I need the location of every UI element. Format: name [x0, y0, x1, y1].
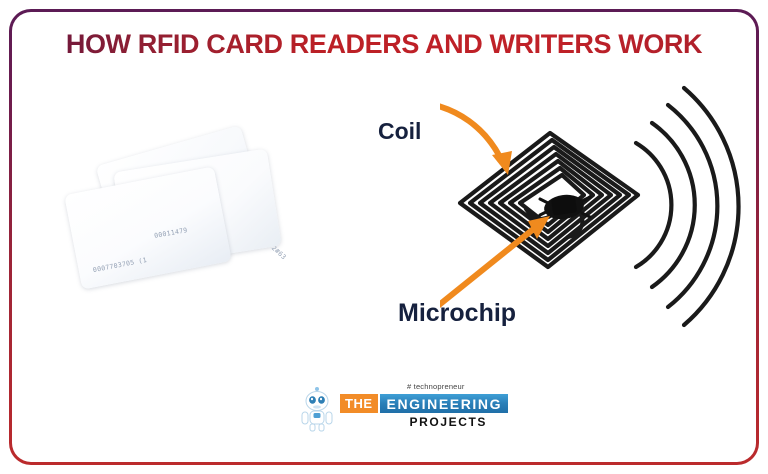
rfid-tag-svg: [440, 85, 760, 330]
logo-word-the: THE: [340, 394, 378, 413]
infographic-canvas: HOW RFID CARD READERS AND WRITERS WORK 0…: [0, 0, 768, 474]
coil-antenna: [460, 133, 638, 267]
robot-mascot-icon: [299, 384, 335, 432]
rfid-tag-graphic: [440, 85, 760, 330]
callout-label-microchip: Microchip: [398, 299, 516, 328]
logo-word-engineering: ENGINEERING: [380, 394, 509, 413]
rfid-card-stack: 000139#65 015-2#63 0007703705 (1 0001147…: [62, 132, 312, 302]
coil-arrow: [440, 103, 512, 175]
page-title: HOW RFID CARD READERS AND WRITERS WORK: [0, 30, 768, 60]
callout-label-coil: Coil: [378, 118, 421, 145]
logo-wordmark: THE ENGINEERING: [340, 394, 508, 413]
rfid-card-front: 0007703705 (1: [64, 166, 232, 289]
footer-logo: # technopreneur THE ENGINEERING PROJECTS: [299, 382, 489, 434]
card-serial-text: 0007703705 (1: [92, 256, 147, 274]
logo-tagline: # technopreneur: [407, 382, 465, 391]
radio-wave-arcs: [636, 88, 739, 325]
logo-word-projects: PROJECTS: [410, 415, 487, 429]
